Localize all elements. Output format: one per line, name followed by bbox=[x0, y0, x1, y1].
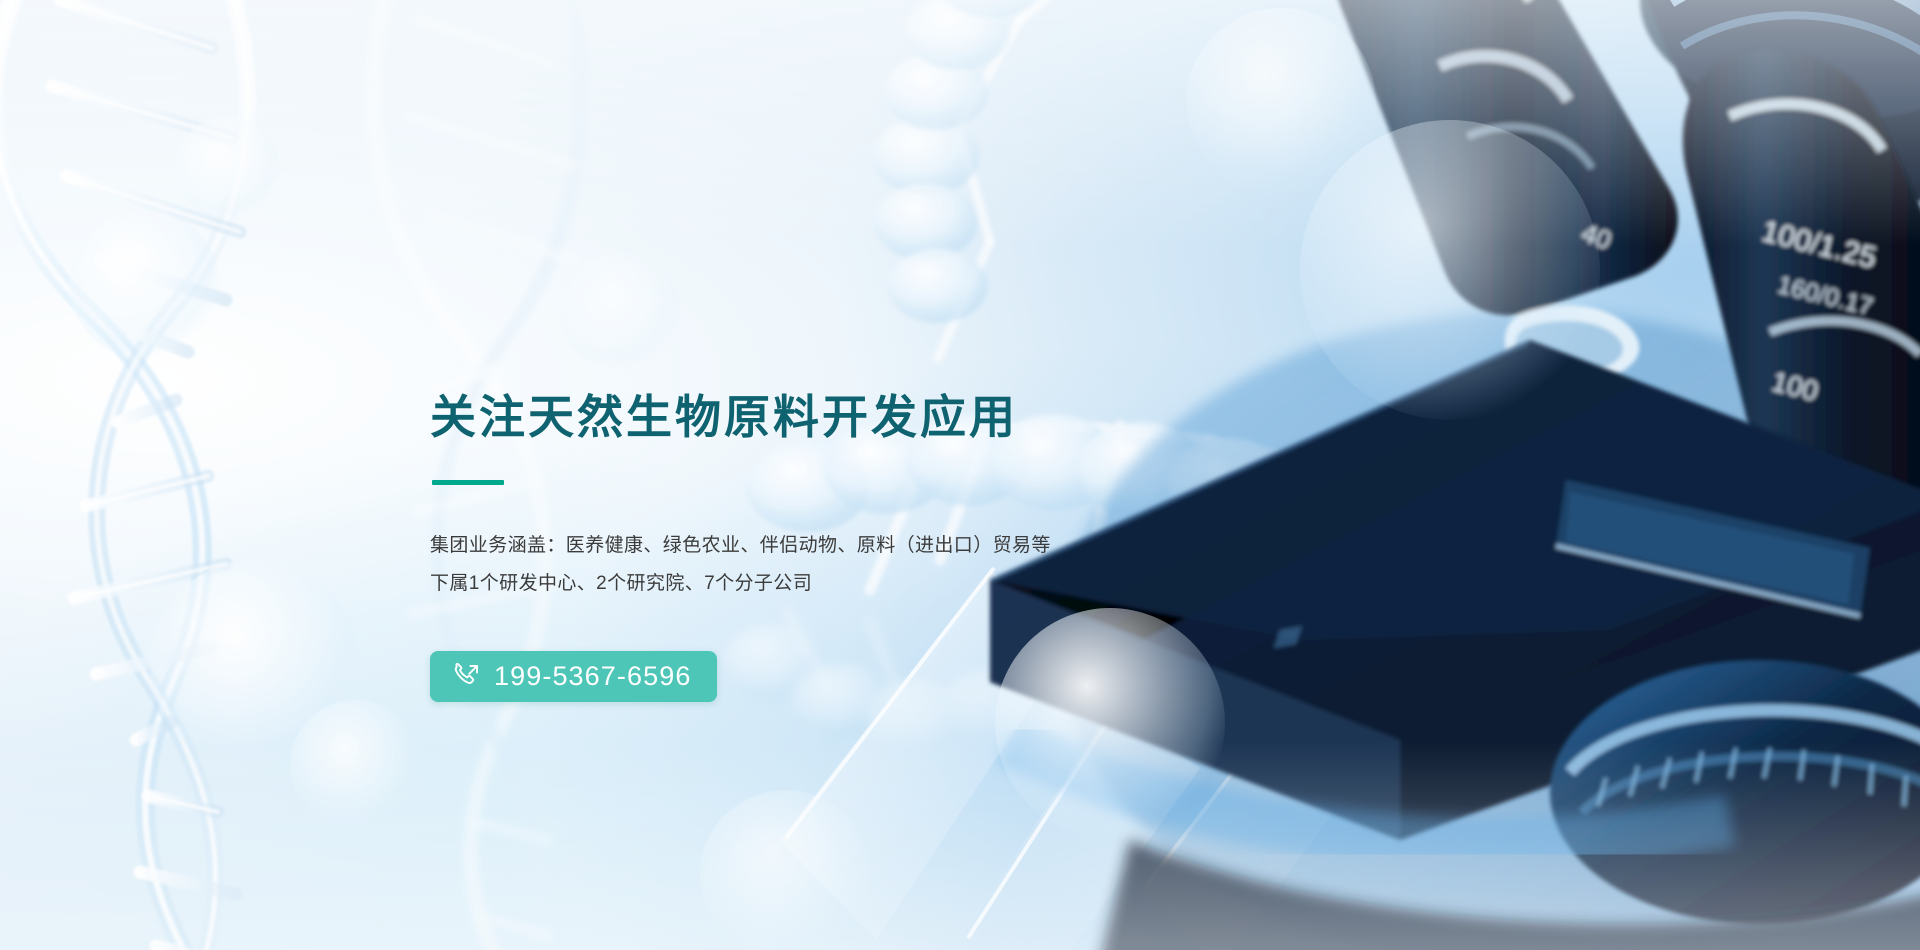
microscope-label-100-125: 100/1.25 bbox=[1758, 215, 1879, 275]
hero-description: 集团业务涵盖：医养健康、绿色农业、伴侣动物、原料（进出口）贸易等 下属1个研发中… bbox=[430, 527, 1190, 603]
microscope-label-100: 100 bbox=[1769, 366, 1822, 407]
phone-number-label: 199-5367-6596 bbox=[494, 663, 691, 690]
bokeh-light bbox=[150, 560, 360, 770]
bokeh-light bbox=[1186, 8, 1376, 198]
page-title: 关注天然生物原料开发应用 bbox=[430, 390, 1190, 444]
microscope-label-40: 40 bbox=[1578, 217, 1615, 255]
hero-banner: 40 100/1.25 160/0.17 100 bbox=[0, 0, 1920, 950]
title-underline-divider bbox=[432, 480, 504, 485]
phone-forward-icon bbox=[452, 662, 481, 691]
phone-cta-button[interactable]: 199-5367-6596 bbox=[430, 651, 717, 702]
bokeh-light bbox=[1300, 120, 1600, 420]
bokeh-light bbox=[70, 210, 220, 360]
bokeh-light bbox=[560, 250, 680, 370]
hero-description-line-2: 下属1个研发中心、2个研究院、7个分子公司 bbox=[430, 565, 1190, 603]
bokeh-light bbox=[290, 700, 420, 830]
hero-description-line-1: 集团业务涵盖：医养健康、绿色农业、伴侣动物、原料（进出口）贸易等 bbox=[430, 527, 1190, 565]
microscope-label-160-017: 160/0.17 bbox=[1775, 271, 1876, 322]
bokeh-light bbox=[700, 790, 870, 950]
hero-content-block: 关注天然生物原料开发应用 集团业务涵盖：医养健康、绿色农业、伴侣动物、原料（进出… bbox=[430, 390, 1190, 702]
bokeh-light bbox=[176, 116, 280, 220]
